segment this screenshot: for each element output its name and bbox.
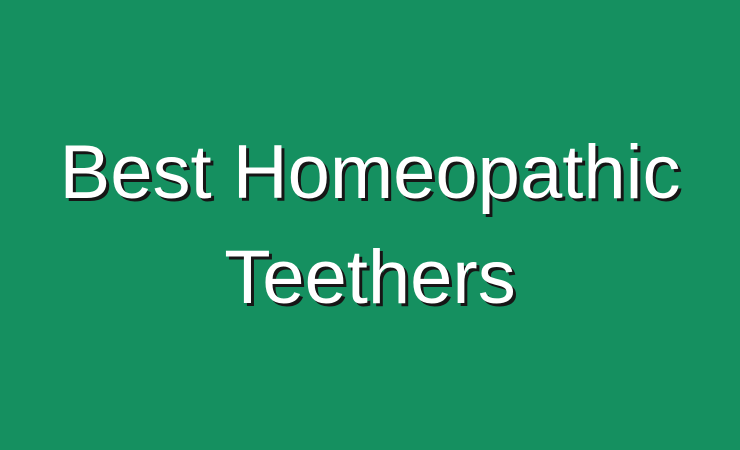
title-block: Best Homeopathic Teethers — [0, 120, 740, 330]
page-title-line-2: Teethers — [18, 225, 722, 330]
page-title-line-1: Best Homeopathic — [18, 120, 722, 225]
featured-image-banner: Best Homeopathic Teethers — [0, 0, 740, 450]
page-title: Best Homeopathic Teethers — [18, 120, 722, 330]
